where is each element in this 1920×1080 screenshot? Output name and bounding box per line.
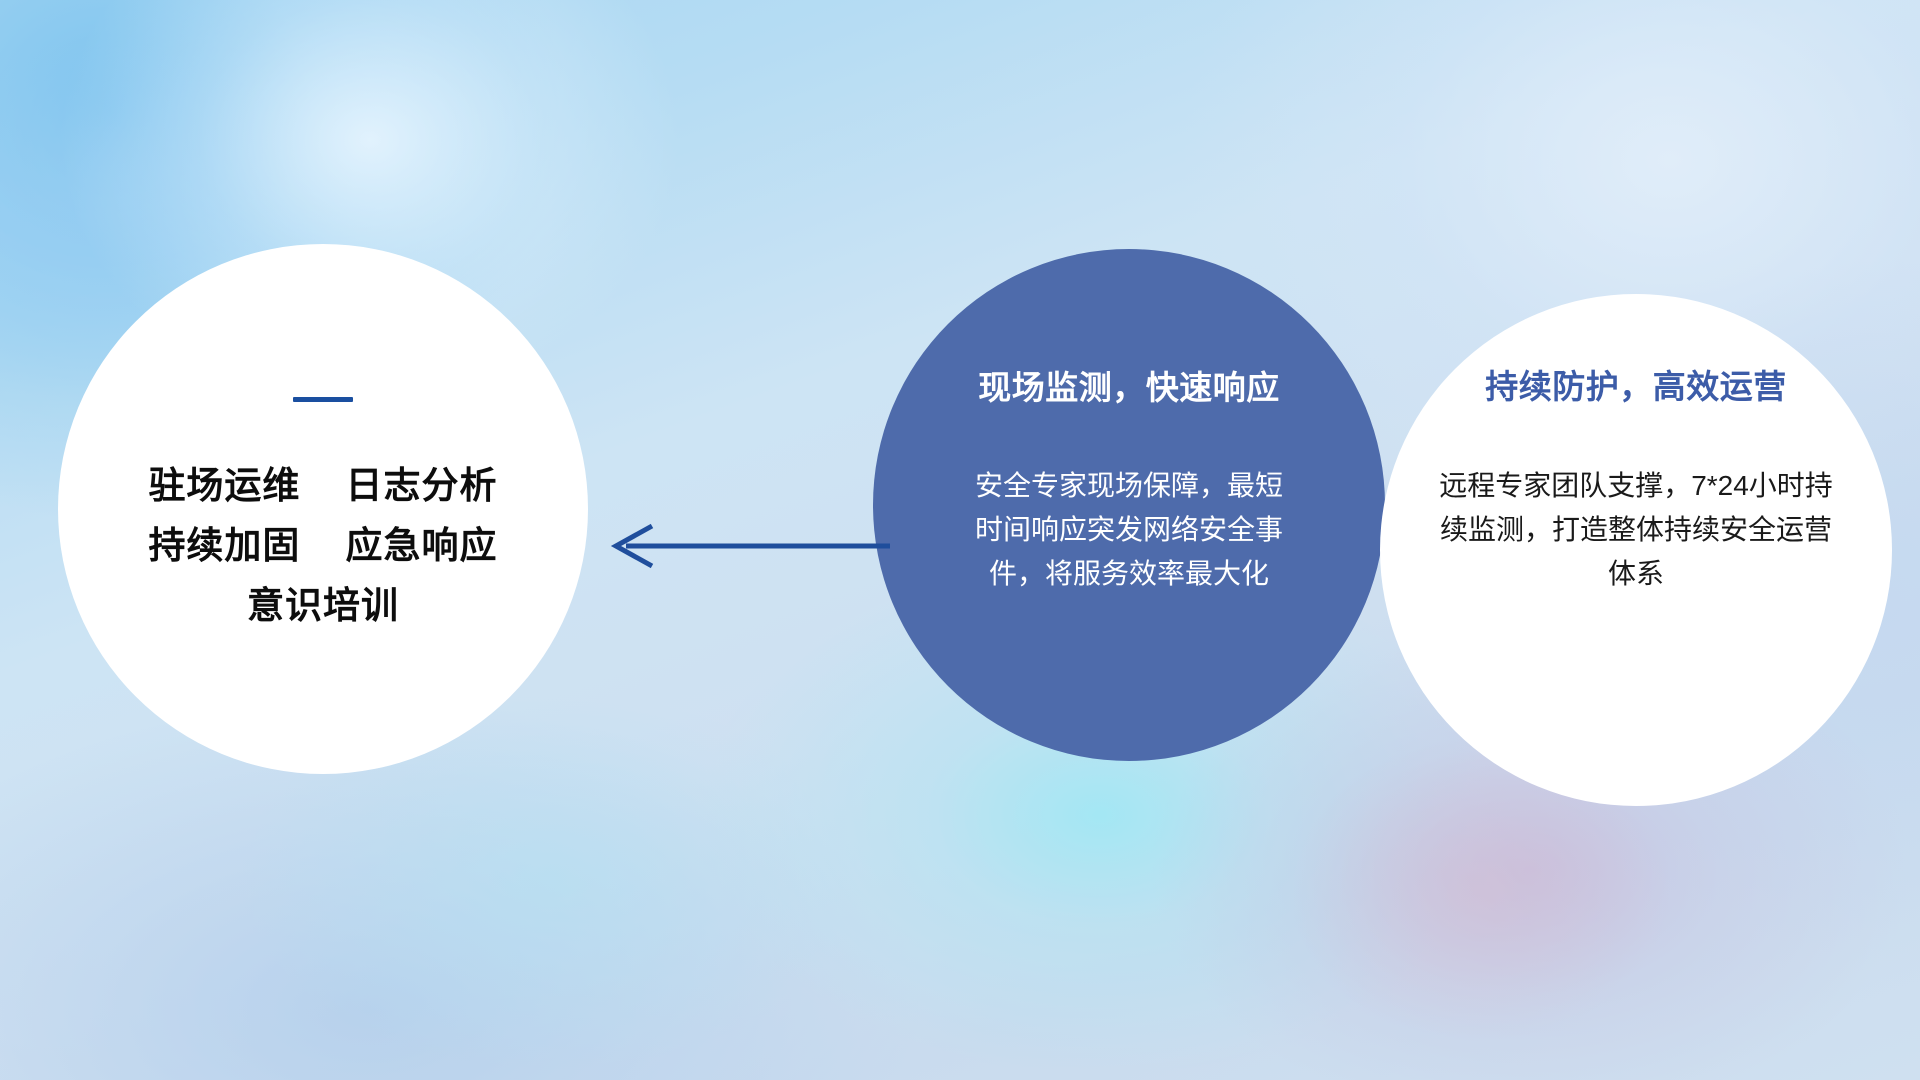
flow-arrow-left xyxy=(600,520,890,572)
list-item: 持续加固 应急响应 xyxy=(148,516,497,576)
right-circle-content: 持续防护，高效运营 远程专家团队支撑，7*24小时持续监测，打造整体持续安全运营… xyxy=(1380,294,1892,806)
left-circle-content: 驻场运维 日志分析 持续加固 应急响应 意识培训 xyxy=(58,244,588,774)
middle-circle-title: 现场监测，快速响应 xyxy=(978,361,1280,409)
slide-canvas: 驻场运维 日志分析 持续加固 应急响应 意识培训 现场监测，快速响应 安全专家现… xyxy=(0,0,1920,1080)
middle-circle-content: 现场监测，快速响应 安全专家现场保障，最短时间响应突发网络安全事件，将服务效率最… xyxy=(873,249,1385,761)
right-circle-body: 远程专家团队支撑，7*24小时持续监测，打造整体持续安全运营体系 xyxy=(1436,464,1836,597)
right-circle-title: 持续防护，高效运营 xyxy=(1485,360,1787,408)
list-item: 驻场运维 日志分析 xyxy=(148,456,497,516)
list-item: 意识培训 xyxy=(148,576,497,636)
left-circle-keyword-list: 驻场运维 日志分析 持续加固 应急响应 意识培训 xyxy=(148,456,497,636)
middle-circle-body: 安全专家现场保障，最短时间响应突发网络安全事件，将服务效率最大化 xyxy=(964,464,1294,597)
divider-line-icon xyxy=(293,397,353,402)
